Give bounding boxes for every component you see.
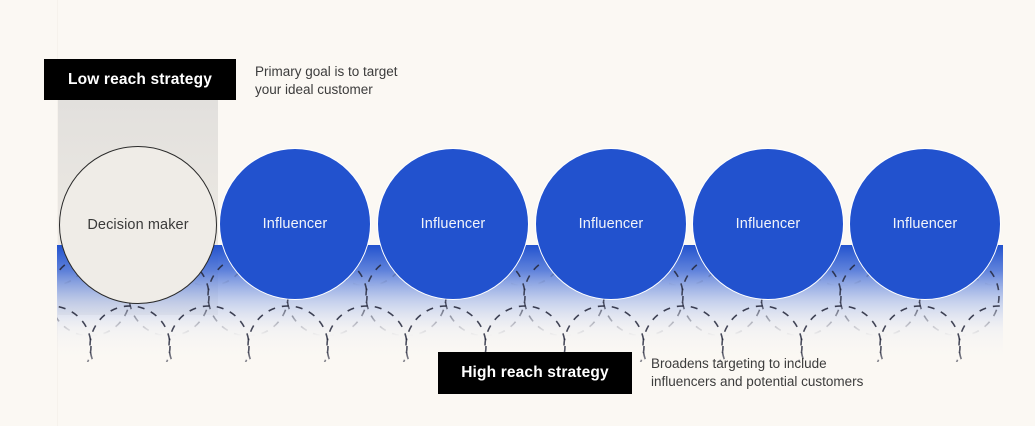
node-influencer-4[interactable]: Influencer xyxy=(692,148,844,300)
node-influencer-2[interactable]: Influencer xyxy=(377,148,529,300)
node-label-influencer-2: Influencer xyxy=(421,217,486,232)
node-label-influencer-3: Influencer xyxy=(579,217,644,232)
node-label-decision-maker: Decision maker xyxy=(87,218,188,233)
node-decision-maker[interactable]: Decision maker xyxy=(59,146,217,304)
diagram-canvas: Decision maker Influencer Influencer Inf… xyxy=(0,0,1035,426)
node-label-influencer-4: Influencer xyxy=(736,217,801,232)
caption-primary-goal: Primary goal is to target your ideal cus… xyxy=(255,63,398,99)
chip-low-reach-strategy[interactable]: Low reach strategy xyxy=(44,59,236,100)
node-label-influencer-1: Influencer xyxy=(263,217,328,232)
node-influencer-5[interactable]: Influencer xyxy=(849,148,1001,300)
caption-broadens-targeting: Broadens targeting to include influencer… xyxy=(651,355,863,391)
chip-high-reach-strategy[interactable]: High reach strategy xyxy=(438,352,632,394)
node-influencer-3[interactable]: Influencer xyxy=(535,148,687,300)
node-influencer-1[interactable]: Influencer xyxy=(219,148,371,300)
node-label-influencer-5: Influencer xyxy=(893,217,958,232)
